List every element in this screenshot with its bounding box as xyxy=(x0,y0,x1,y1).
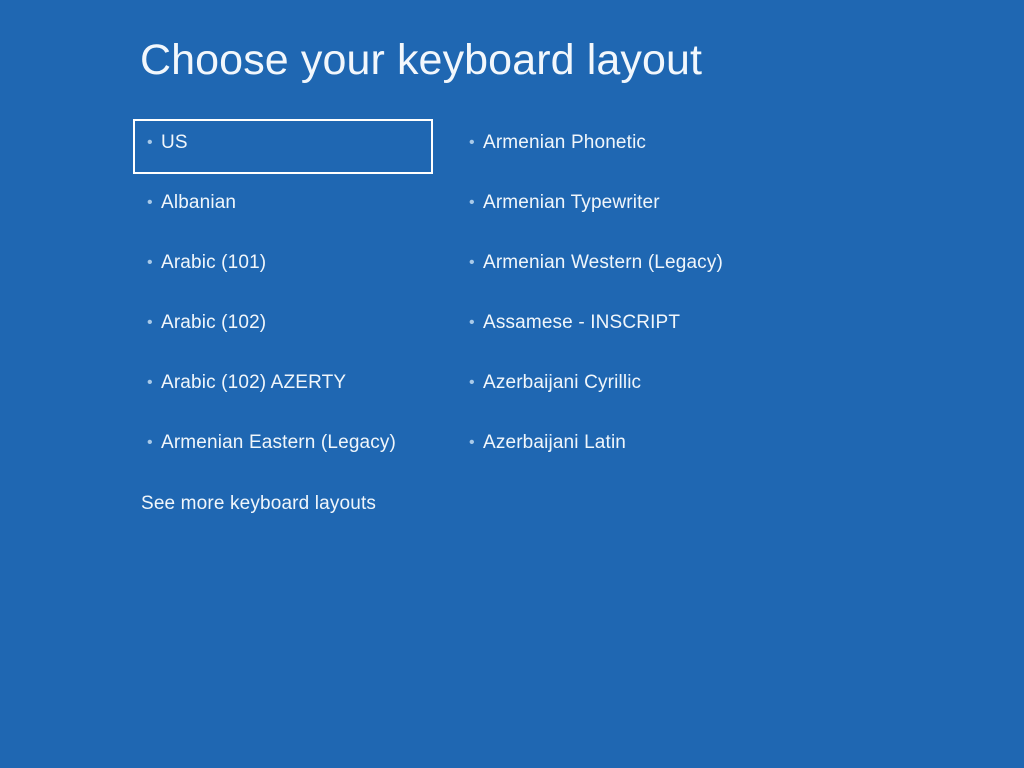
keyboard-layout-option-right-4[interactable]: •Azerbaijani Cyrillic xyxy=(455,359,785,414)
keyboard-layout-option-left-2[interactable]: •Arabic (101) xyxy=(133,239,433,294)
bullet-icon: • xyxy=(469,311,483,335)
keyboard-layout-option-right-5[interactable]: •Azerbaijani Latin xyxy=(455,419,785,474)
keyboard-layout-column-right: •Armenian Phonetic•Armenian Typewriter•A… xyxy=(455,119,785,479)
keyboard-layout-label: Azerbaijani Latin xyxy=(483,431,626,455)
bullet-icon: • xyxy=(147,251,161,275)
bullet-icon: • xyxy=(469,431,483,455)
bullet-icon: • xyxy=(469,131,483,155)
keyboard-layout-option-left-3[interactable]: •Arabic (102) xyxy=(133,299,433,354)
keyboard-layout-label: Arabic (102) xyxy=(161,311,266,335)
keyboard-layout-option-right-0[interactable]: •Armenian Phonetic xyxy=(455,119,785,174)
see-more-keyboard-layouts-link[interactable]: See more keyboard layouts xyxy=(141,492,376,516)
keyboard-layout-option-right-3[interactable]: •Assamese - INSCRIPT xyxy=(455,299,785,354)
keyboard-layout-label: Albanian xyxy=(161,191,236,215)
keyboard-layout-option-left-1[interactable]: •Albanian xyxy=(133,179,433,234)
keyboard-layout-label: Armenian Phonetic xyxy=(483,131,646,155)
keyboard-layout-label: US xyxy=(161,131,188,155)
keyboard-layout-label: Armenian Typewriter xyxy=(483,191,660,215)
keyboard-layout-label: Armenian Western (Legacy) xyxy=(483,251,723,275)
keyboard-layout-option-right-2[interactable]: •Armenian Western (Legacy) xyxy=(455,239,785,294)
keyboard-layout-label: Arabic (102) AZERTY xyxy=(161,371,346,395)
bullet-icon: • xyxy=(469,371,483,395)
keyboard-layout-option-left-0[interactable]: •US xyxy=(133,119,433,174)
keyboard-layout-label: Arabic (101) xyxy=(161,251,266,275)
bullet-icon: • xyxy=(147,431,161,455)
keyboard-layout-label: Armenian Eastern (Legacy) xyxy=(161,431,396,455)
bullet-icon: • xyxy=(147,371,161,395)
keyboard-layout-option-left-4[interactable]: •Arabic (102) AZERTY xyxy=(133,359,433,414)
bullet-icon: • xyxy=(469,191,483,215)
keyboard-layout-column-left: •US•Albanian•Arabic (101)•Arabic (102)•A… xyxy=(133,119,433,479)
keyboard-layout-option-left-5[interactable]: •Armenian Eastern (Legacy) xyxy=(133,419,433,474)
keyboard-layout-screen: Choose your keyboard layout •US•Albanian… xyxy=(0,0,1024,768)
bullet-icon: • xyxy=(147,131,161,155)
keyboard-layout-label: Assamese - INSCRIPT xyxy=(483,311,680,335)
bullet-icon: • xyxy=(469,251,483,275)
bullet-icon: • xyxy=(147,311,161,335)
bullet-icon: • xyxy=(147,191,161,215)
page-title: Choose your keyboard layout xyxy=(140,38,702,83)
keyboard-layout-option-right-1[interactable]: •Armenian Typewriter xyxy=(455,179,785,234)
keyboard-layout-label: Azerbaijani Cyrillic xyxy=(483,371,641,395)
